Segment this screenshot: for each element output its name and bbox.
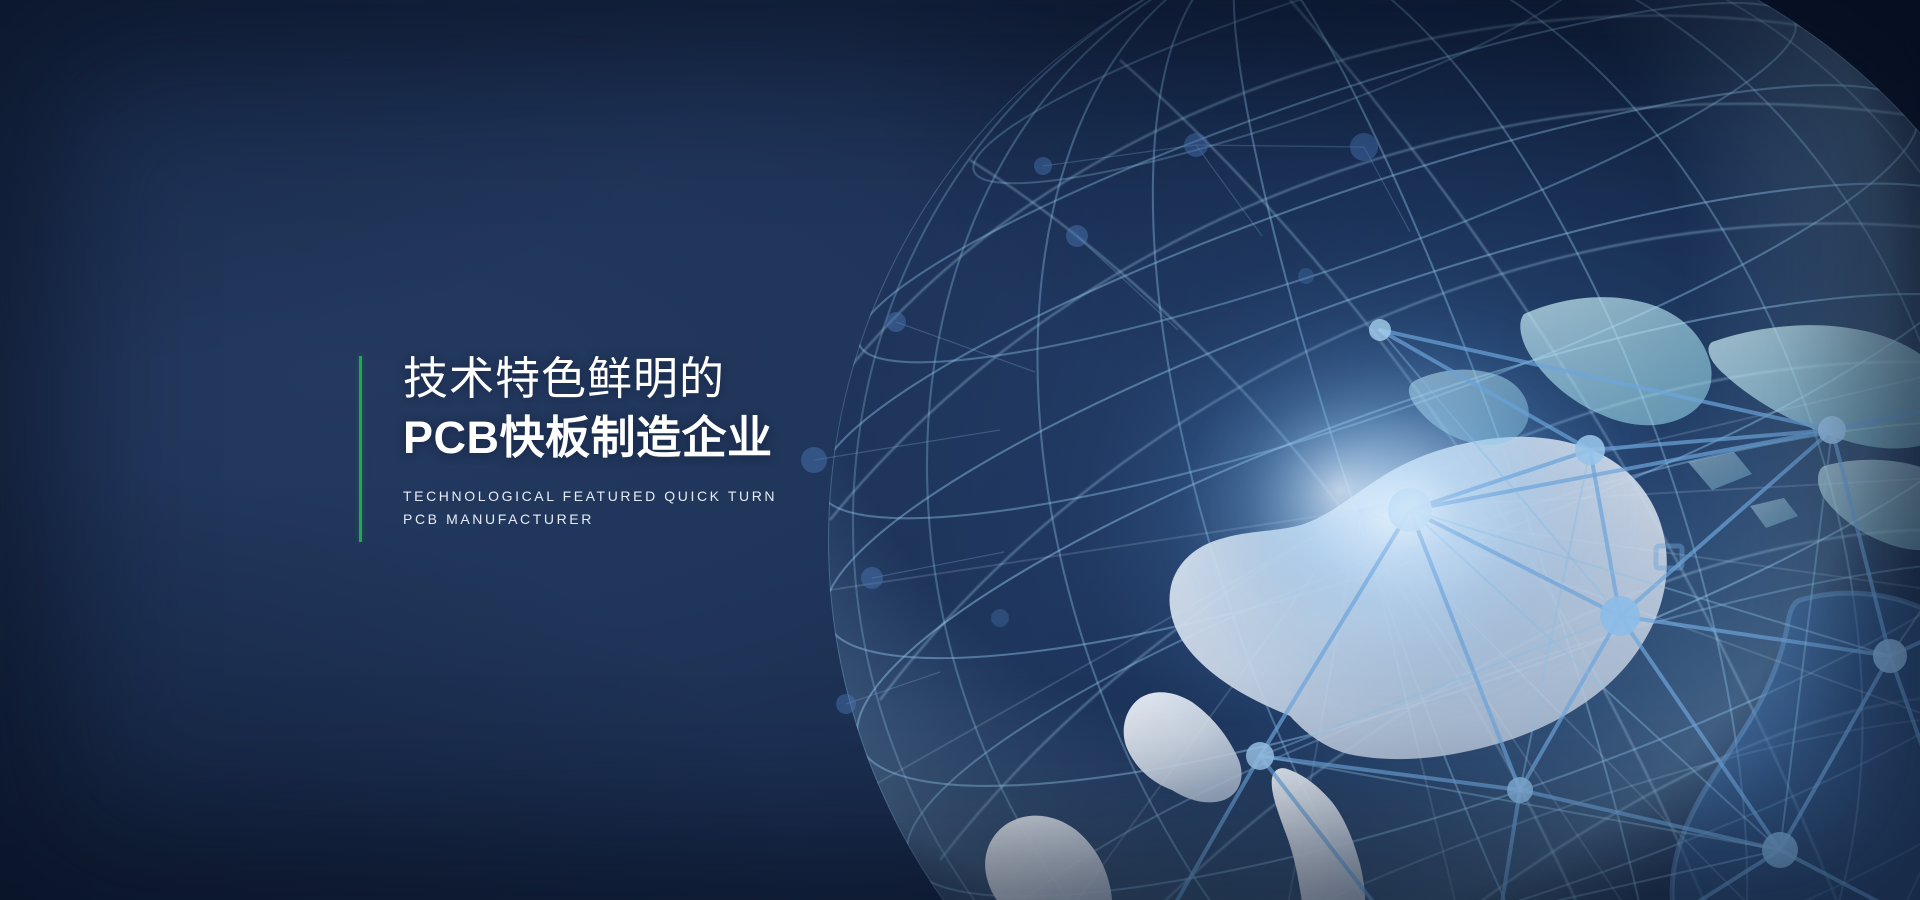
subtitle: TECHNOLOGICAL FEATURED QUICK TURN PCB MA… (403, 485, 1119, 530)
hero-text-block: 技术特色鲜明的 PCB快板制造企业 TECHNOLOGICAL FEATURED… (359, 352, 1119, 530)
subtitle-line-2: PCB MANUFACTURER (403, 508, 1119, 531)
hero-banner: 技术特色鲜明的 PCB快板制造企业 TECHNOLOGICAL FEATURED… (0, 0, 1920, 900)
subtitle-line-1: TECHNOLOGICAL FEATURED QUICK TURN (403, 485, 1119, 508)
headline-line-2: PCB快板制造企业 (403, 411, 1119, 465)
headline-line-1: 技术特色鲜明的 (403, 352, 1119, 405)
green-accent-bar (359, 356, 362, 542)
